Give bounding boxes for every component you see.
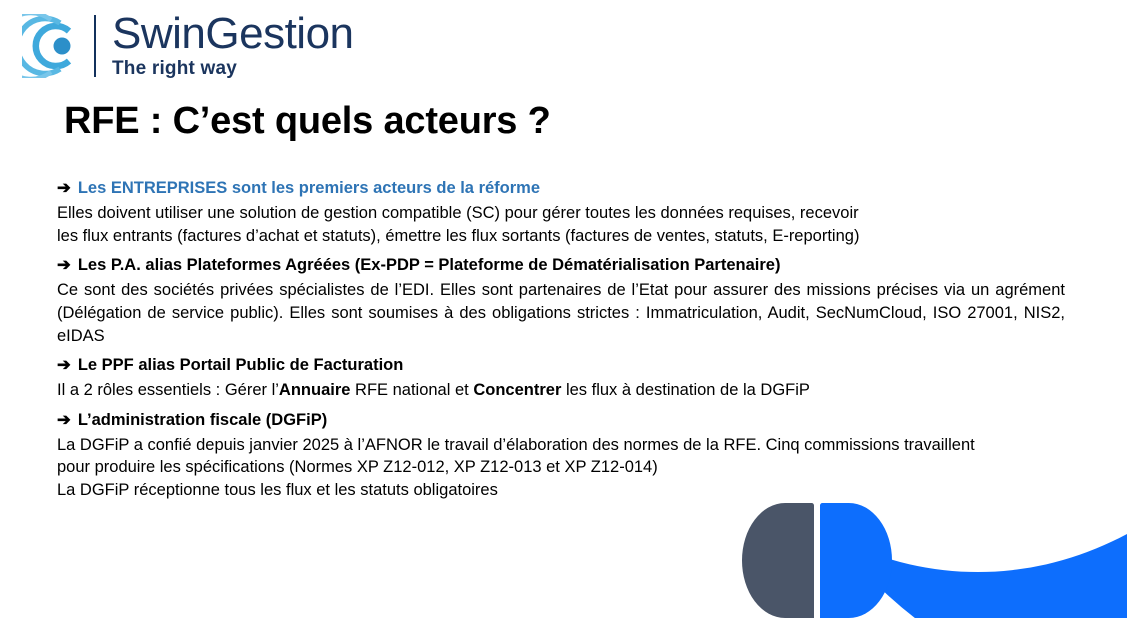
section-heading-label: Le PPF alias Portail Public de Facturati… bbox=[78, 356, 404, 374]
section-heading-label: Les ENTREPRISES sont les premiers acteur… bbox=[78, 179, 540, 197]
section-heading: ➔Les ENTREPRISES sont les premiers acteu… bbox=[57, 178, 1065, 200]
section-heading: ➔Le PPF alias Portail Public de Facturat… bbox=[57, 355, 1065, 377]
section-line-rich: Il a 2 rôles essentiels : Gérer l’Annuai… bbox=[57, 379, 1065, 402]
section-line: pour produire les spécifications (Normes… bbox=[57, 456, 1065, 479]
section-entreprises: ➔Les ENTREPRISES sont les premiers acteu… bbox=[57, 178, 1065, 247]
section-paragraph: Ce sont des sociétés privées spécialiste… bbox=[57, 279, 1065, 347]
rich-bold-concentrer: Concentrer bbox=[473, 381, 561, 399]
section-line: La DGFiP a confié depuis janvier 2025 à … bbox=[57, 434, 1065, 457]
logo-text: SwinGestion The right way bbox=[112, 12, 354, 80]
petal-decoration bbox=[742, 503, 932, 618]
section-plateformes-agreees: ➔Les P.A. alias Plateformes Agréées (Ex-… bbox=[57, 255, 1065, 347]
page-title: RFE : C’est quels acteurs ? bbox=[64, 100, 551, 143]
petal-blue-icon bbox=[820, 503, 892, 618]
rich-part-2: RFE national et bbox=[350, 381, 473, 399]
concentric-arcs-icon bbox=[22, 14, 84, 78]
section-line: les flux entrants (factures d’achat et s… bbox=[57, 225, 1065, 248]
logo-tagline: The right way bbox=[112, 58, 354, 80]
section-heading: ➔Les P.A. alias Plateformes Agréées (Ex-… bbox=[57, 255, 1065, 277]
slide-body: ➔Les ENTREPRISES sont les premiers acteu… bbox=[57, 178, 1065, 502]
slide: SwinGestion The right way RFE : C’est qu… bbox=[0, 0, 1127, 618]
section-dgfip: ➔L’administration fiscale (DGFiP) La DGF… bbox=[57, 410, 1065, 502]
arrow-icon: ➔ bbox=[57, 356, 71, 374]
logo-divider bbox=[94, 15, 96, 77]
rich-bold-annuaire: Annuaire bbox=[279, 381, 351, 399]
logo: SwinGestion The right way bbox=[22, 12, 354, 80]
petal-dark-icon bbox=[742, 503, 814, 618]
section-heading-label: Les P.A. alias Plateformes Agréées (Ex-P… bbox=[78, 256, 781, 274]
section-ppf: ➔Le PPF alias Portail Public de Facturat… bbox=[57, 355, 1065, 402]
logo-name: SwinGestion bbox=[112, 12, 354, 57]
arrow-icon: ➔ bbox=[57, 179, 71, 197]
section-heading-label: L’administration fiscale (DGFiP) bbox=[78, 411, 327, 429]
rich-part-1: Il a 2 rôles essentiels : Gérer l’ bbox=[57, 381, 279, 399]
section-line: Elles doivent utiliser une solution de g… bbox=[57, 202, 1065, 225]
arrow-icon: ➔ bbox=[57, 411, 71, 429]
rich-part-3: les flux à destination de la DGFiP bbox=[561, 381, 810, 399]
section-heading: ➔L’administration fiscale (DGFiP) bbox=[57, 410, 1065, 432]
section-line: La DGFiP réceptionne tous les flux et le… bbox=[57, 479, 1065, 502]
arrow-icon: ➔ bbox=[57, 256, 71, 274]
